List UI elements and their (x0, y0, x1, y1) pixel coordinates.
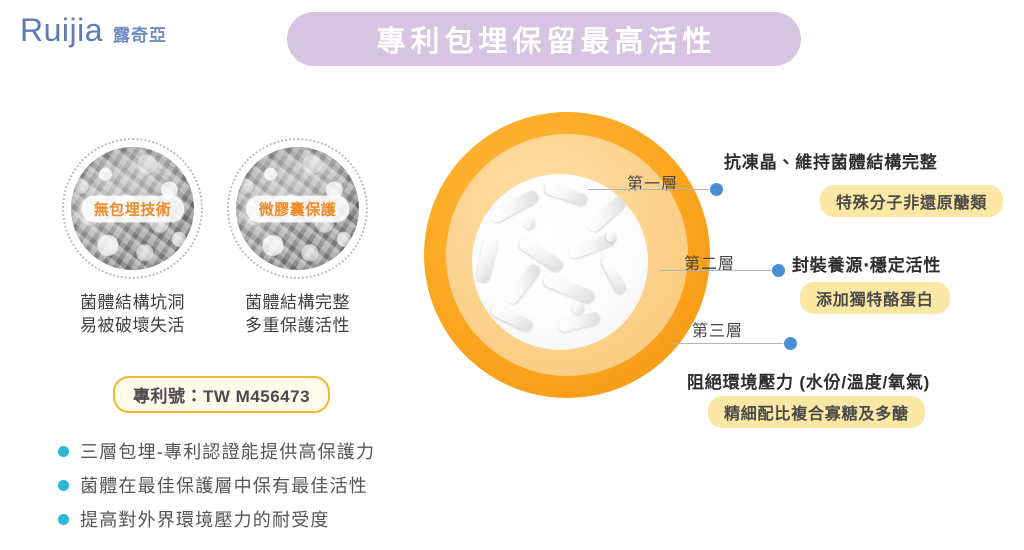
list-item-label: 三層包埋-專利認證能提供高保護力 (80, 438, 375, 464)
list-item-label: 提高對外界環境壓力的耐受度 (80, 506, 330, 532)
list-item-label: 菌體在最佳保護層中保有最佳活性 (80, 472, 368, 498)
layer-1-pill: 特殊分子非還原醣類 (820, 185, 1003, 217)
layer-2-connector (660, 270, 780, 271)
sem-caption-line1: 菌體結構坑洞 (80, 292, 185, 315)
list-item: 提高對外界環境壓力的耐受度 (58, 502, 375, 536)
bullet-dot-icon (58, 446, 69, 457)
brand-logo: Ruijia 露奇亞 (20, 14, 167, 46)
bacteria-rod-shape (586, 194, 628, 234)
list-item: 菌體在最佳保護層中保有最佳活性 (58, 468, 375, 502)
layer-2-connector-dot (772, 264, 785, 277)
page-title: 專利包埋保留最高活性 (371, 18, 716, 60)
bacteria-rod-shape (517, 235, 566, 274)
capsule-diagram (424, 112, 710, 398)
sem-caption: 菌體結構完整 多重保護活性 (245, 292, 350, 338)
sem-circle: 微膠囊保護 (227, 138, 368, 279)
benefit-list: 三層包埋-專利認證能提供高保護力 菌體在最佳保護層中保有最佳活性 提高對外界環境… (58, 434, 375, 536)
sem-caption-line2: 易被破壞失活 (80, 315, 185, 338)
bacteria-rod-shape (543, 181, 589, 206)
layer-3-pill: 精細配比複合寡糖及多醣 (708, 396, 925, 428)
sem-caption-line2: 多重保護活性 (245, 315, 350, 338)
bacteria-rod-shape (475, 235, 498, 283)
sem-pill-label: 微膠囊保護 (246, 195, 350, 222)
capsule-layer-3-core (472, 174, 648, 350)
bacteria-rod-shape (542, 272, 597, 304)
bacteria-rod-shape (572, 302, 584, 314)
bacteria-rod-shape (557, 311, 601, 333)
layer-2-heading: 封裝養源‧穩定活性 (792, 251, 941, 276)
layer-3-heading: 阻絕環境壓力 (水份/溫度/氧氣) (687, 368, 930, 393)
comparison-item-unencapsulated: 無包埋技術 菌體結構坑洞 易被破壞失活 (62, 138, 203, 338)
layer-2-pill: 添加獨特酪蛋白 (800, 282, 950, 314)
comparison-item-microcapsule: 微膠囊保護 菌體結構完整 多重保護活性 (227, 138, 368, 338)
bullet-dot-icon (58, 514, 69, 525)
list-item: 三層包埋-專利認證能提供高保護力 (58, 434, 375, 468)
bacteria-rod-shape (606, 232, 616, 242)
layer-1-connector-dot (710, 183, 723, 196)
title-banner: 專利包埋保留最高活性 (287, 12, 801, 66)
layer-1-label: 第一層 (627, 170, 678, 194)
bacteria-rod-shape (524, 218, 535, 229)
comparison-group: 無包埋技術 菌體結構坑洞 易被破壞失活 微膠囊保護 菌體結構完整 多重保護活性 (62, 138, 368, 338)
brand-name-cjk: 露奇亞 (113, 27, 167, 44)
sem-pill-label: 無包埋技術 (81, 195, 185, 222)
infographic-page: Ruijia 露奇亞 專利包埋保留最高活性 無包埋技術 菌體結構坑洞 易被破壞失… (0, 0, 1024, 550)
bacteria-rod-shape (600, 255, 628, 295)
brand-name-latin: Ruijia (20, 14, 103, 46)
patent-number-badge: 專利號：TW M456473 (113, 376, 330, 413)
layer-3-connector-dot (784, 337, 797, 350)
layer-1-heading: 抗凍晶、維持菌體結構完整 (724, 148, 938, 173)
sem-caption: 菌體結構坑洞 易被破壞失活 (80, 292, 185, 338)
bullet-dot-icon (58, 480, 69, 491)
sem-caption-line1: 菌體結構完整 (245, 292, 350, 315)
sem-circle: 無包埋技術 (62, 138, 203, 279)
layer-3-connector (672, 343, 792, 344)
bacteria-rod-shape (504, 262, 542, 306)
layer-1-connector (588, 189, 712, 190)
layer-3-label: 第三層 (692, 317, 743, 341)
